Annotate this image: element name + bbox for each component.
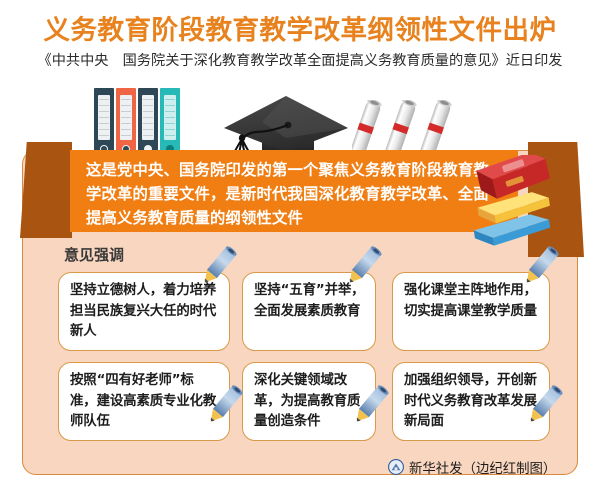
callout-banner: 这是党中央、国务院印发的第一个聚焦义务教育阶段教育教学改革的重要文件，是新时代我… [70, 150, 518, 232]
section-label: 意见强调 [64, 244, 124, 265]
callout-text: 这是党中央、国务院印发的第一个聚焦义务教育阶段教育教学改革的重要文件，是新时代我… [86, 158, 504, 231]
page-title: 义务教育阶段教育教学改革纲领性文件出炉 [0, 8, 600, 47]
credit-text: 新华社发（边纪红制图） [409, 457, 556, 477]
binder-label [120, 95, 132, 140]
pencil-icon-5 [342, 382, 398, 432]
binder-label [142, 95, 154, 140]
pencil-icon-6 [516, 382, 572, 432]
ribbon-tail-left [20, 142, 72, 238]
book-stack-illustration [470, 155, 554, 247]
pencil-icon-3 [512, 243, 568, 293]
pencil-icon-2 [335, 243, 391, 293]
xinhua-agency-logo [388, 459, 404, 475]
infographic-poster: 义务教育阶段教育教学改革纲领性文件出炉 《中共中央 国务院关于深化教育教学改革全… [0, 0, 600, 486]
binder-label [98, 95, 110, 140]
pencil-icon-4 [196, 382, 252, 432]
footer-credit: 新华社发（边纪红制图） [388, 457, 556, 477]
page-subtitle: 《中共中央 国务院关于深化教育教学改革全面提高义务教育质量的意见》近日印发 [0, 50, 600, 70]
pencil-icon-1 [190, 243, 246, 293]
binder-label [164, 95, 176, 140]
